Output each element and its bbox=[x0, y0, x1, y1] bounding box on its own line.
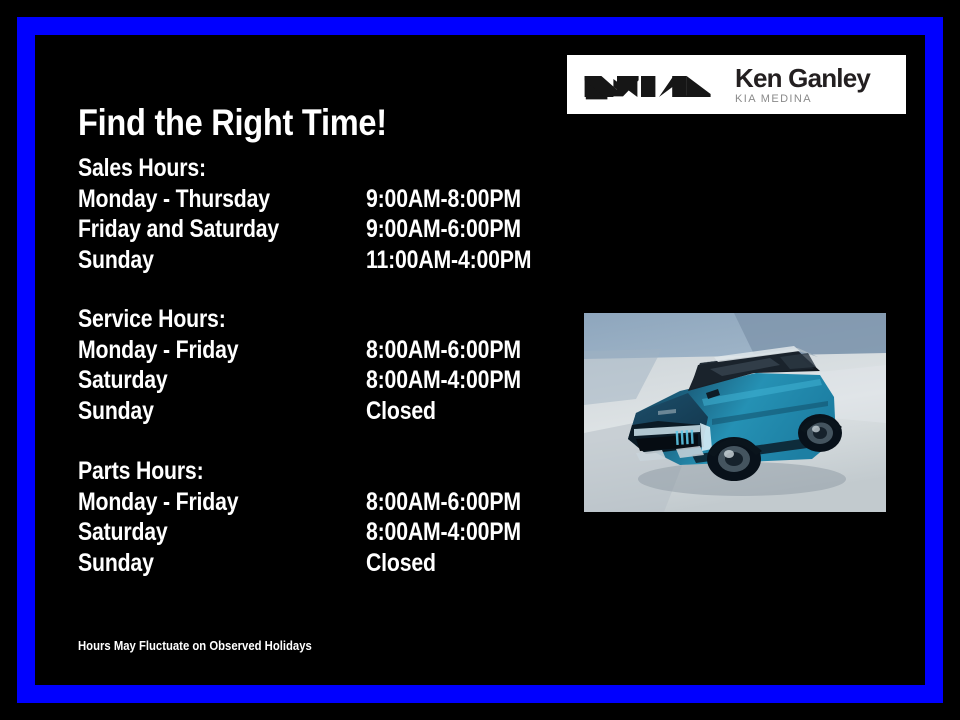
dealer-sublabel: KIA MEDINA bbox=[735, 94, 870, 105]
slide-root: Find the Right Time! Sales Hours: Monday… bbox=[0, 0, 960, 720]
hours-section-service: Service Hours: Monday - Friday 8:00AM-6:… bbox=[78, 304, 252, 426]
time-value: 8:00AM-6:00PM bbox=[366, 335, 521, 366]
day-label: Sunday bbox=[78, 245, 154, 276]
hours-section-parts: Parts Hours: Monday - Friday 8:00AM-6:00… bbox=[78, 456, 226, 578]
hours-row: Sunday 11:00AM-4:00PM bbox=[78, 245, 228, 276]
hours-row: Sunday Closed bbox=[78, 548, 226, 579]
page-title: Find the Right Time! bbox=[78, 102, 387, 144]
kia-logo-icon bbox=[581, 68, 713, 102]
day-label: Saturday bbox=[78, 365, 168, 396]
dealer-logo-lockup: Ken Ganley KIA MEDINA bbox=[567, 55, 906, 114]
time-value: Closed bbox=[366, 548, 436, 579]
hours-section-sales: Sales Hours: Monday - Thursday 9:00AM-8:… bbox=[78, 153, 228, 275]
section-heading-parts: Parts Hours: bbox=[78, 456, 203, 487]
time-value: 8:00AM-4:00PM bbox=[366, 517, 521, 548]
section-heading-service: Service Hours: bbox=[78, 304, 226, 335]
day-label: Monday - Friday bbox=[78, 335, 238, 366]
time-value: Closed bbox=[366, 396, 436, 427]
slide-content-area: Find the Right Time! Sales Hours: Monday… bbox=[35, 35, 925, 685]
hours-row: Saturday 8:00AM-4:00PM bbox=[78, 517, 226, 548]
day-label: Saturday bbox=[78, 517, 168, 548]
hours-row: Monday - Friday 8:00AM-6:00PM bbox=[78, 487, 226, 518]
hours-row: Saturday 8:00AM-4:00PM bbox=[78, 365, 252, 396]
day-label: Monday - Friday bbox=[78, 487, 238, 518]
kia-ev9-suv-photo bbox=[584, 313, 886, 512]
section-heading-sales: Sales Hours: bbox=[78, 153, 206, 184]
time-value: 8:00AM-6:00PM bbox=[366, 487, 521, 518]
time-value: 9:00AM-6:00PM bbox=[366, 214, 521, 245]
day-label: Sunday bbox=[78, 396, 154, 427]
day-label: Sunday bbox=[78, 548, 154, 579]
hours-row: Monday - Friday 8:00AM-6:00PM bbox=[78, 335, 252, 366]
time-value: 9:00AM-8:00PM bbox=[366, 184, 521, 215]
footer-disclaimer: Hours May Fluctuate on Observed Holidays bbox=[78, 638, 312, 653]
time-value: 8:00AM-4:00PM bbox=[366, 365, 521, 396]
hours-row: Sunday Closed bbox=[78, 396, 252, 427]
hours-row: Friday and Saturday 9:00AM-6:00PM bbox=[78, 214, 228, 245]
dealer-name: Ken Ganley bbox=[735, 65, 870, 91]
dealer-name-block: Ken Ganley KIA MEDINA bbox=[735, 65, 870, 105]
day-label: Friday and Saturday bbox=[78, 214, 279, 245]
time-value: 11:00AM-4:00PM bbox=[366, 245, 531, 276]
day-label: Monday - Thursday bbox=[78, 184, 270, 215]
hours-row: Monday - Thursday 9:00AM-8:00PM bbox=[78, 184, 228, 215]
